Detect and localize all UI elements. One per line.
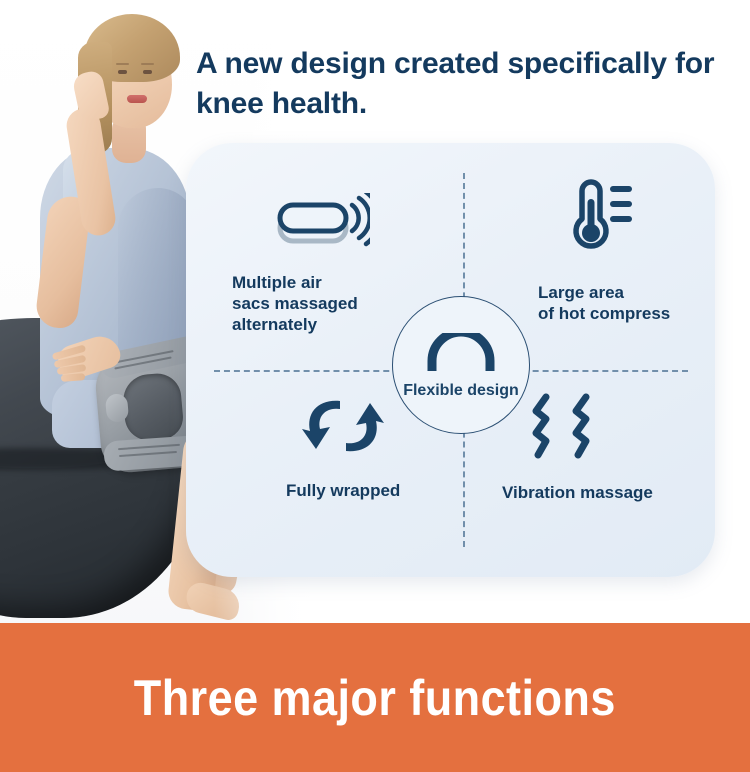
feature-hot-compress: Large area of hot compress: [538, 177, 718, 324]
center-flexible-design: Flexible design: [392, 296, 530, 434]
headline: A new design created specifically for kn…: [196, 44, 716, 123]
feature-label: Large area of hot compress: [538, 282, 718, 324]
model-lips: [127, 95, 147, 103]
model-eye-left: [118, 70, 127, 74]
knee-massager-center-pad: [121, 372, 185, 443]
bottom-banner: Three major functions: [0, 623, 750, 772]
model-eyebrow-left: [116, 63, 129, 65]
center-label: Flexible design: [403, 382, 519, 400]
thermometer-heat-icon: [550, 177, 718, 260]
feature-label: Multiple air sacs massaged alternately: [232, 272, 422, 335]
arch-icon: [424, 333, 498, 378]
model-eyebrow-right: [141, 63, 154, 65]
banner-title: Three major functions: [134, 669, 616, 727]
feature-label: Fully wrapped: [286, 480, 476, 501]
feature-multiple-air-sacs: Multiple air sacs massaged alternately: [232, 193, 422, 335]
product-feature-poster: A new design created specifically for kn…: [0, 0, 750, 772]
feature-vibration-massage: Vibration massage: [502, 393, 702, 503]
vibration-zigzag-icon: [532, 393, 702, 466]
feature-label: Vibration massage: [502, 482, 702, 503]
air-sac-waves-icon: [274, 193, 422, 258]
model-eye-right: [143, 70, 152, 74]
feature-panel: Multiple air sacs massaged alternately L…: [186, 143, 715, 577]
